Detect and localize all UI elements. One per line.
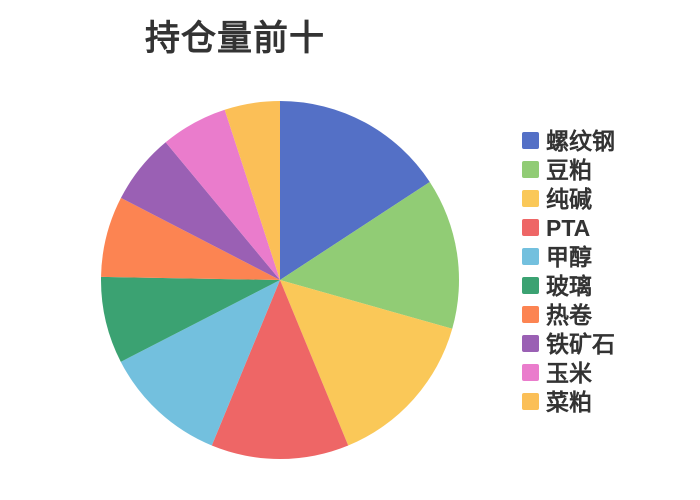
legend-item-label: PTA (546, 215, 590, 241)
pie-svg (0, 0, 500, 500)
pie-plot-area (0, 0, 500, 500)
pie-chart-figure: 持仓量前十 螺纹钢豆粕纯碱PTA甲醇玻璃热卷铁矿石玉米菜粕 (0, 0, 700, 500)
legend-item[interactable]: 甲醇 (522, 242, 692, 271)
legend-swatch-icon (522, 335, 539, 352)
legend-item-label: 纯碱 (546, 186, 592, 212)
legend-swatch-icon (522, 277, 539, 294)
legend-item-label: 菜粕 (546, 389, 592, 415)
legend-item[interactable]: 豆粕 (522, 155, 692, 184)
legend-item[interactable]: 铁矿石 (522, 329, 692, 358)
legend-item-label: 豆粕 (546, 157, 592, 183)
chart-legend: 螺纹钢豆粕纯碱PTA甲醇玻璃热卷铁矿石玉米菜粕 (522, 126, 692, 416)
legend-item[interactable]: 热卷 (522, 300, 692, 329)
legend-swatch-icon (522, 161, 539, 178)
legend-item-label: 铁矿石 (546, 331, 615, 357)
legend-item-label: 玉米 (546, 360, 592, 386)
legend-item[interactable]: 纯碱 (522, 184, 692, 213)
legend-item[interactable]: 螺纹钢 (522, 126, 692, 155)
legend-item-label: 玻璃 (546, 273, 592, 299)
legend-item[interactable]: 玉米 (522, 358, 692, 387)
pie-slice-group (101, 101, 459, 459)
legend-item[interactable]: 菜粕 (522, 387, 692, 416)
legend-swatch-icon (522, 393, 539, 410)
legend-item[interactable]: 玻璃 (522, 271, 692, 300)
legend-swatch-icon (522, 190, 539, 207)
legend-swatch-icon (522, 306, 539, 323)
legend-item-label: 甲醇 (546, 244, 592, 270)
legend-swatch-icon (522, 248, 539, 265)
legend-item-label: 热卷 (546, 302, 592, 328)
legend-swatch-icon (522, 132, 539, 149)
legend-item-label: 螺纹钢 (546, 128, 615, 154)
legend-swatch-icon (522, 364, 539, 381)
legend-swatch-icon (522, 219, 539, 236)
legend-item[interactable]: PTA (522, 213, 692, 242)
